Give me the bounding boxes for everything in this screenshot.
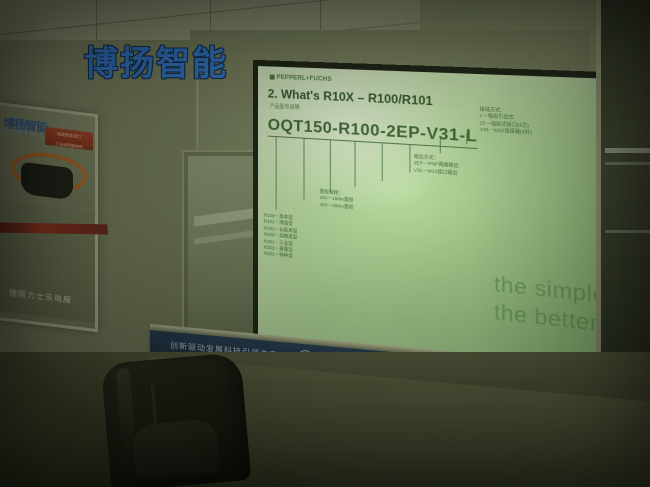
poster-product-photo — [7, 146, 85, 206]
poster-upper-panel: 博扬智能 BYINTELL 德国原装进口 工业级伺服电机 — [0, 105, 95, 209]
poster-caption: 德国力士乐电服 — [9, 287, 72, 306]
leader-line-7 — [440, 138, 441, 153]
window-reflection-2 — [605, 162, 650, 165]
photo-scene: 博扬智能 BYINTELL 德国原装进口 工业级伺服电机 德国力士乐电服 — [0, 0, 650, 487]
leader-line-8 — [466, 133, 467, 144]
leader-line-1 — [276, 137, 277, 210]
leader-line-5 — [382, 143, 383, 181]
black-bag-shape — [21, 162, 73, 200]
window-reflection-3 — [605, 230, 650, 233]
annotation-mid: 输出方式： 2EP－PNP两路输出 V31－M12接口输出 — [414, 154, 459, 177]
office-chair — [98, 358, 258, 487]
leader-line-4 — [355, 142, 356, 187]
poster-badge: 德国原装进口 工业级伺服电机 — [45, 127, 93, 151]
annotation-range: 量程规格： 150－150m量程 300－300m量程 — [320, 189, 354, 211]
leader-line-2 — [303, 139, 304, 200]
leader-line-6 — [409, 145, 410, 172]
poster-lower-panel: 德国力士乐电服 — [0, 199, 95, 323]
watermark: 博扬智能 — [84, 36, 228, 85]
door-reflection — [194, 207, 260, 226]
leader-line-3 — [330, 140, 331, 193]
annotation-model-list: R100－基本型 R101－增强型 R103－长距离型 R200－高精度型 R2… — [264, 212, 298, 260]
chair-lumbar-pad — [132, 418, 220, 479]
model-list-item-6: R203－特种型 — [264, 251, 298, 261]
window-reflection-1 — [605, 148, 650, 153]
right-window — [596, 0, 650, 372]
logo-square-icon — [270, 74, 275, 79]
slide-subtitle: 产品型号说明 — [270, 103, 300, 112]
poster-red-stripe — [0, 222, 108, 234]
wall-poster: 博扬智能 BYINTELL 德国原装进口 工业级伺服电机 德国力士乐电服 — [0, 102, 98, 333]
door-reflection-secondary — [194, 229, 260, 244]
